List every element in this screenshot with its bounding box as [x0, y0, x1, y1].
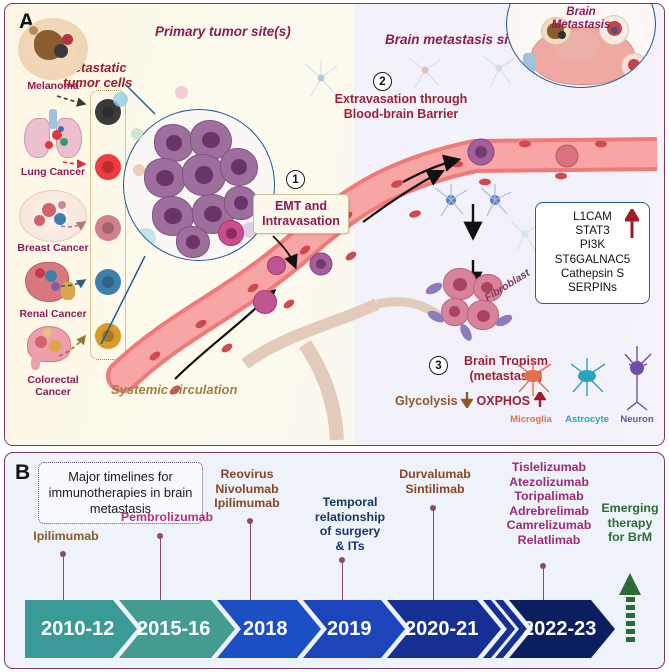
glycolysis-label: Glycolysis — [395, 394, 458, 408]
chevron-text-2020-21: 2020-21 — [405, 618, 478, 641]
colorectal-art — [17, 322, 89, 374]
primary-tumor-site-title: Primary tumor site(s) — [155, 24, 291, 39]
stem-2015-16 — [160, 537, 162, 600]
gene-list-box: L1CAM STAT3 PI3K ST6GALNAC5 Cathepsin S … — [535, 202, 650, 304]
ctc-colorectal — [95, 323, 121, 349]
brain-metastatic-cluster — [433, 260, 511, 338]
floating-cell-3 — [131, 128, 143, 140]
stem-2022-23 — [543, 567, 545, 600]
cell-type-legend-art — [505, 342, 665, 412]
organ-lung-label: Lung Cancer — [7, 167, 99, 179]
floating-cell-4 — [133, 164, 145, 176]
ctc-lung — [95, 154, 121, 180]
panel-a: A Primary tumor site(s) Brain metastasis… — [4, 3, 665, 446]
gene-serpins: SERPINs — [540, 281, 645, 295]
brain-inset-title: Brain Metastasis — [507, 6, 655, 32]
figure-root: A Primary tumor site(s) Brain metastasis… — [0, 0, 669, 672]
step-3-number: 3 — [429, 356, 448, 375]
organ-renal-label: Renal Cancer — [7, 309, 99, 321]
brain-metastasis-inset: Brain Metastasis — [506, 3, 656, 88]
legend-astrocyte: Astrocyte — [555, 414, 619, 425]
timeline-label-2015-16: Pembrolizumab — [97, 510, 237, 525]
lung-art — [16, 108, 90, 164]
gene-pi3k: PI3K — [540, 238, 645, 252]
stem-2018 — [250, 522, 252, 600]
organ-melanoma: Melanoma — [7, 18, 99, 93]
circulating-tumor-cell-column — [90, 90, 126, 360]
systemic-circulation-label: Systemic circulation — [111, 382, 237, 397]
floating-cell-2 — [175, 86, 188, 99]
emerging-therapy-label: Emerging therapy for BrM — [597, 501, 663, 545]
step-1-callout: EMT and Intravasation — [253, 194, 349, 234]
stem-2020-21 — [433, 509, 435, 600]
panel-b: B Major timelines for immunotherapies in… — [4, 452, 665, 669]
stem-2010-12 — [63, 555, 65, 600]
organ-colorectal: Colorectal Cancer — [7, 322, 99, 398]
timeline-label-2018: Reovirus Nivolumab Ipilimumab — [191, 467, 303, 511]
organ-colorectal-label: Colorectal Cancer — [7, 375, 99, 398]
organ-breast: Breast Cancer — [7, 190, 99, 255]
legend-neuron: Neuron — [611, 414, 663, 425]
chevron-text-2010-12: 2010-12 — [41, 618, 114, 641]
stem-2019 — [342, 561, 344, 600]
legend-microglia: Microglia — [499, 414, 563, 425]
organ-melanoma-label: Melanoma — [7, 81, 99, 93]
ctc-renal — [95, 269, 121, 295]
organ-renal: Renal Cancer — [7, 256, 99, 321]
timeline-label-2019: Temporal relationship of surgery & ITs — [297, 495, 403, 553]
intravasating-cell-2 — [253, 290, 277, 314]
ctc-breast — [95, 215, 121, 241]
primary-tumor-magnifier — [123, 109, 275, 261]
organ-lung: Lung Cancer — [7, 108, 99, 179]
gene-st6galnac5: ST6GALNAC5 — [540, 253, 645, 267]
chevron-text-2019: 2019 — [327, 618, 372, 641]
melanoma-art — [18, 18, 88, 80]
emerging-therapy-arrow-icon — [613, 561, 653, 653]
step-2-label: Extravasation through Blood-brain Barrie… — [311, 92, 491, 122]
chevron-text-2015-16: 2015-16 — [137, 618, 210, 641]
timeline-label-2010-12: Ipilimumab — [11, 529, 121, 544]
gene-upregulation-arrow-icon — [625, 209, 639, 239]
brain-metastasis-site-title: Brain metastasis site — [385, 32, 520, 47]
timeline-label-2020-21: Durvalumab Sintilimab — [377, 467, 493, 496]
chevron-text-2022-23: 2022-23 — [523, 618, 596, 641]
intravasating-cell — [267, 256, 286, 275]
panel-b-letter: B — [15, 461, 31, 485]
gene-cathepsin-s: Cathepsin S — [540, 267, 645, 281]
breast-art — [19, 190, 87, 242]
floating-cell-1 — [113, 92, 128, 107]
glycolysis-down-arrow-icon — [461, 392, 473, 408]
renal-art — [17, 256, 89, 308]
chevron-text-2018: 2018 — [243, 618, 288, 641]
organ-breast-label: Breast Cancer — [7, 243, 99, 255]
step-1-number: 1 — [286, 170, 305, 189]
step-2-number: 2 — [373, 72, 392, 91]
